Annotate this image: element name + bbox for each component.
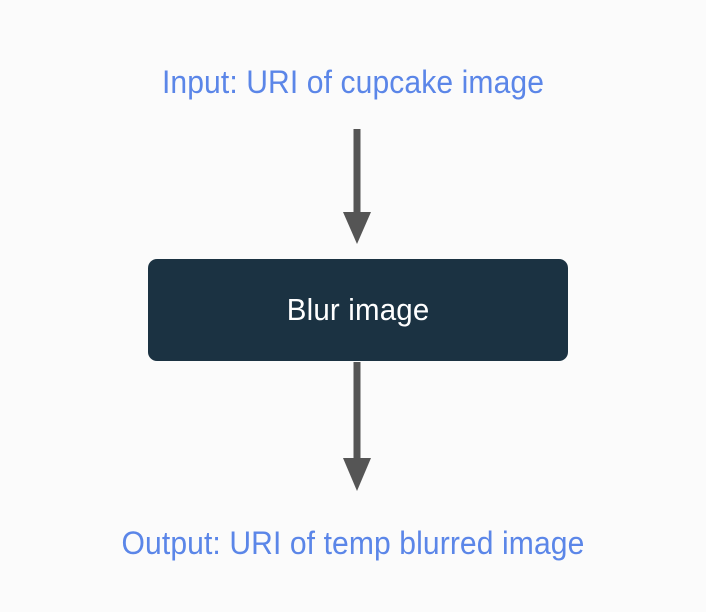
arrow-down-icon-input-to-process — [333, 126, 381, 246]
output-label: Output: URI of temp blurred image — [21, 523, 685, 563]
arrow-down-icon-process-to-output — [333, 358, 381, 494]
process-step-blur-image[interactable]: Blur image — [148, 259, 568, 361]
input-label: Input: URI of cupcake image — [21, 62, 685, 102]
flowchart-diagram: Input: URI of cupcake image Blur image O… — [0, 0, 706, 612]
process-step-label: Blur image — [287, 292, 430, 328]
